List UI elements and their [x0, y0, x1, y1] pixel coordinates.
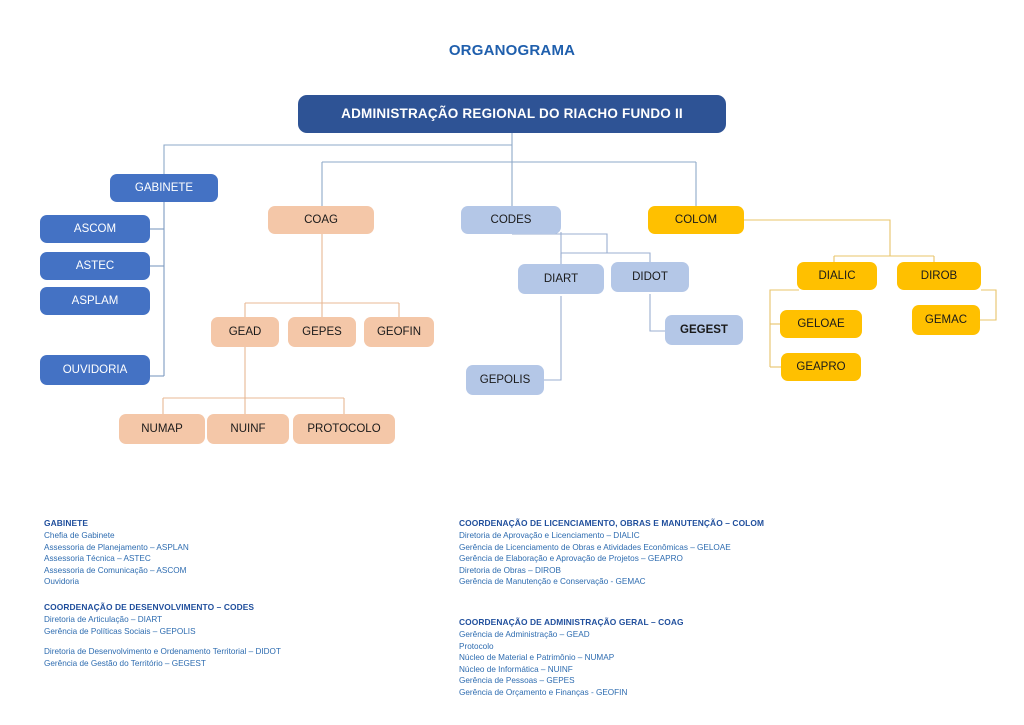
node-nuinf[interactable]: NUINF: [207, 414, 289, 444]
legend-codes-spacer: [44, 637, 281, 646]
legend-gabinete-line-1: Assessoria de Planejamento – ASPLAN: [44, 542, 189, 554]
legend-gabinete-line-4: Ouvidoria: [44, 576, 189, 588]
node-gabinete[interactable]: GABINETE: [110, 174, 218, 202]
node-colom[interactable]: COLOM: [648, 206, 744, 234]
node-astec[interactable]: ASTEC: [40, 252, 150, 280]
node-dirob[interactable]: DIROB: [897, 262, 981, 290]
node-numap[interactable]: NUMAP: [119, 414, 205, 444]
legend-colom-heading: COORDENAÇÃO DE LICENCIAMENTO, OBRAS E MA…: [459, 518, 764, 530]
legend-colom-line-0: Diretoria de Aprovação e Licenciamento –…: [459, 530, 764, 542]
node-gepes[interactable]: GEPES: [288, 317, 356, 347]
node-codes[interactable]: CODES: [461, 206, 561, 234]
node-geloae[interactable]: GELOAE: [780, 310, 862, 338]
legend-gabinete-line-2: Assessoria Técnica – ASTEC: [44, 553, 189, 565]
legend-codes-line-0: Diretoria de Articulação – DIART: [44, 614, 281, 626]
legend-coag-heading: COORDENAÇÃO DE ADMINISTRAÇÃO GERAL – COA…: [459, 617, 684, 629]
legend-coag-line-5: Gerência de Orçamento e Finanças - GEOFI…: [459, 687, 684, 699]
node-didot[interactable]: DIDOT: [611, 262, 689, 292]
legend-codes-heading: COORDENAÇÃO DE DESENVOLVIMENTO – CODES: [44, 602, 281, 614]
page-title: ORGANOGRAMA: [0, 42, 1024, 59]
legend-coag: COORDENAÇÃO DE ADMINISTRAÇÃO GERAL – COA…: [459, 617, 684, 699]
node-coag[interactable]: COAG: [268, 206, 374, 234]
legend-gabinete-line-3: Assessoria de Comunicação – ASCOM: [44, 565, 189, 577]
legend-gabinete: GABINETE Chefia de Gabinete Assessoria d…: [44, 518, 189, 588]
node-gemac[interactable]: GEMAC: [912, 305, 980, 335]
node-root[interactable]: ADMINISTRAÇÃO REGIONAL DO RIACHO FUNDO I…: [298, 95, 726, 133]
legend-coag-line-2: Núcleo de Material e Patrimônio – NUMAP: [459, 652, 684, 664]
node-dialic[interactable]: DIALIC: [797, 262, 877, 290]
legend-codes: COORDENAÇÃO DE DESENVOLVIMENTO – CODES D…: [44, 602, 281, 669]
legend-coag-line-4: Gerência de Pessoas – GEPES: [459, 675, 684, 687]
node-asplam[interactable]: ASPLAM: [40, 287, 150, 315]
legend-gabinete-line-0: Chefia de Gabinete: [44, 530, 189, 542]
organogram-canvas: ORGANOGRAMA: [0, 0, 1024, 725]
legend-colom-line-4: Gerência de Manutenção e Conservação - G…: [459, 576, 764, 588]
node-geapro[interactable]: GEAPRO: [781, 353, 861, 381]
node-gepolis[interactable]: GEPOLIS: [466, 365, 544, 395]
legend-codes-line2-1: Gerência de Gestão do Território – GEGES…: [44, 658, 281, 670]
legend-codes-line-1: Gerência de Políticas Sociais – GEPOLIS: [44, 626, 281, 638]
node-ascom[interactable]: ASCOM: [40, 215, 150, 243]
legend-colom-line-1: Gerência de Licenciamento de Obras e Ati…: [459, 542, 764, 554]
node-gead[interactable]: GEAD: [211, 317, 279, 347]
legend-colom: COORDENAÇÃO DE LICENCIAMENTO, OBRAS E MA…: [459, 518, 764, 588]
node-diart[interactable]: DIART: [518, 264, 604, 294]
legend-coag-line-0: Gerência de Administração – GEAD: [459, 629, 684, 641]
legend-colom-line-2: Gerência de Elaboração e Aprovação de Pr…: [459, 553, 764, 565]
node-protocolo[interactable]: PROTOCOLO: [293, 414, 395, 444]
legend-coag-line-3: Núcleo de Informática – NUINF: [459, 664, 684, 676]
legend-gabinete-heading: GABINETE: [44, 518, 189, 530]
legend-codes-line2-0: Diretoria de Desenvolvimento e Ordenamen…: [44, 646, 281, 658]
node-geofin[interactable]: GEOFIN: [364, 317, 434, 347]
legend-coag-line-1: Protocolo: [459, 641, 684, 653]
legend-colom-line-3: Diretoria de Obras – DIROB: [459, 565, 764, 577]
node-ouvidoria[interactable]: OUVIDORIA: [40, 355, 150, 385]
node-gegest[interactable]: GEGEST: [665, 315, 743, 345]
